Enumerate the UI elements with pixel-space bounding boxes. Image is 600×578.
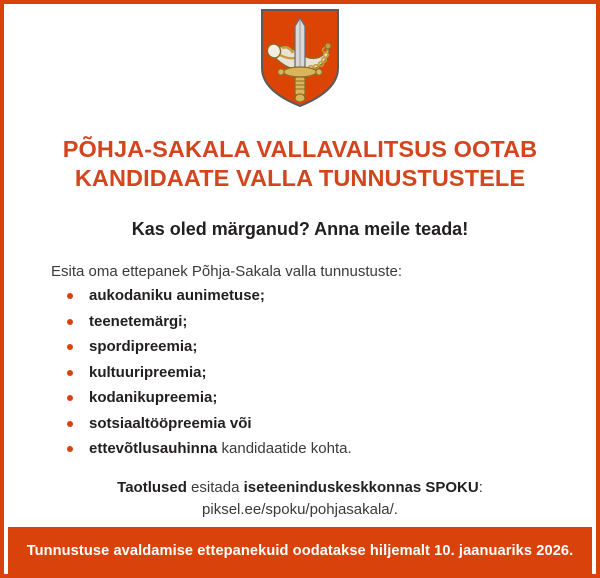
bullet-icon: [67, 421, 73, 427]
application-mid-text: esitada: [187, 479, 244, 496]
page-title-line-1: PÕHJA-SAKALA VALLAVALITSUS OOTAB: [4, 135, 596, 164]
award-name: kodanikupreemia;: [89, 389, 217, 406]
application-instruction: Taotlused esitada iseteeninduskeskkonnas…: [44, 477, 556, 499]
bullet-icon: [67, 370, 73, 376]
application-url[interactable]: piksel.ee/spoku/pohjasakala/.: [44, 499, 556, 521]
deadline-banner: Tunnustuse avaldamise ettepanekuid oodat…: [8, 527, 592, 574]
application-info: Taotlused esitada iseteeninduskeskkonnas…: [4, 477, 596, 521]
page-title-line-2: KANDIDAATE VALLA TUNNUSTUSTELE: [4, 164, 596, 193]
list-item: ettevõtlusauhinna kandidaatide kohta.: [67, 440, 566, 458]
award-name: spordipreemia;: [89, 338, 197, 355]
award-name: ettevõtlusauhinna: [89, 440, 217, 457]
award-name: sotsiaaltööpreemia või: [89, 415, 252, 432]
list-item: teenetemärgi;: [67, 313, 566, 331]
intro-text: Esita oma ettepanek Põhja-Sakala valla t…: [51, 262, 566, 281]
list-item: kultuuripreemia;: [67, 364, 566, 382]
application-bold-spoku: iseteeninduskeskkonnas SPOKU: [244, 479, 479, 496]
bullet-icon: [67, 319, 73, 325]
award-name: aukodaniku aunimetuse;: [89, 287, 265, 304]
coat-of-arms-icon: [260, 8, 340, 108]
list-item: aukodaniku aunimetuse;: [67, 287, 566, 305]
list-item: sotsiaaltööpreemia või: [67, 415, 566, 433]
bullet-icon: [67, 344, 73, 350]
list-item: kodanikupreemia;: [67, 389, 566, 407]
award-name: teenetemärgi;: [89, 313, 187, 330]
bullet-icon: [67, 293, 73, 299]
application-bold-taotlused: Taotlused: [117, 479, 187, 496]
award-name: kultuuripreemia;: [89, 364, 207, 381]
bullet-icon: [67, 395, 73, 401]
bullet-icon: [67, 446, 73, 452]
list-item: spordipreemia;: [67, 338, 566, 356]
subtitle: Kas oled märganud? Anna meile teada!: [4, 217, 596, 241]
body-block: Esita oma ettepanek Põhja-Sakala valla t…: [4, 262, 596, 458]
announcement-poster: PÕHJA-SAKALA VALLAVALITSUS OOTAB KANDIDA…: [0, 0, 600, 578]
award-suffix: kandidaatide kohta.: [217, 440, 351, 457]
deadline-text: Tunnustuse avaldamise ettepanekuid oodat…: [15, 543, 586, 559]
crest-container: [4, 4, 596, 108]
awards-list: aukodaniku aunimetuse; teenetemärgi; spo…: [51, 287, 566, 458]
application-colon: :: [479, 479, 483, 496]
